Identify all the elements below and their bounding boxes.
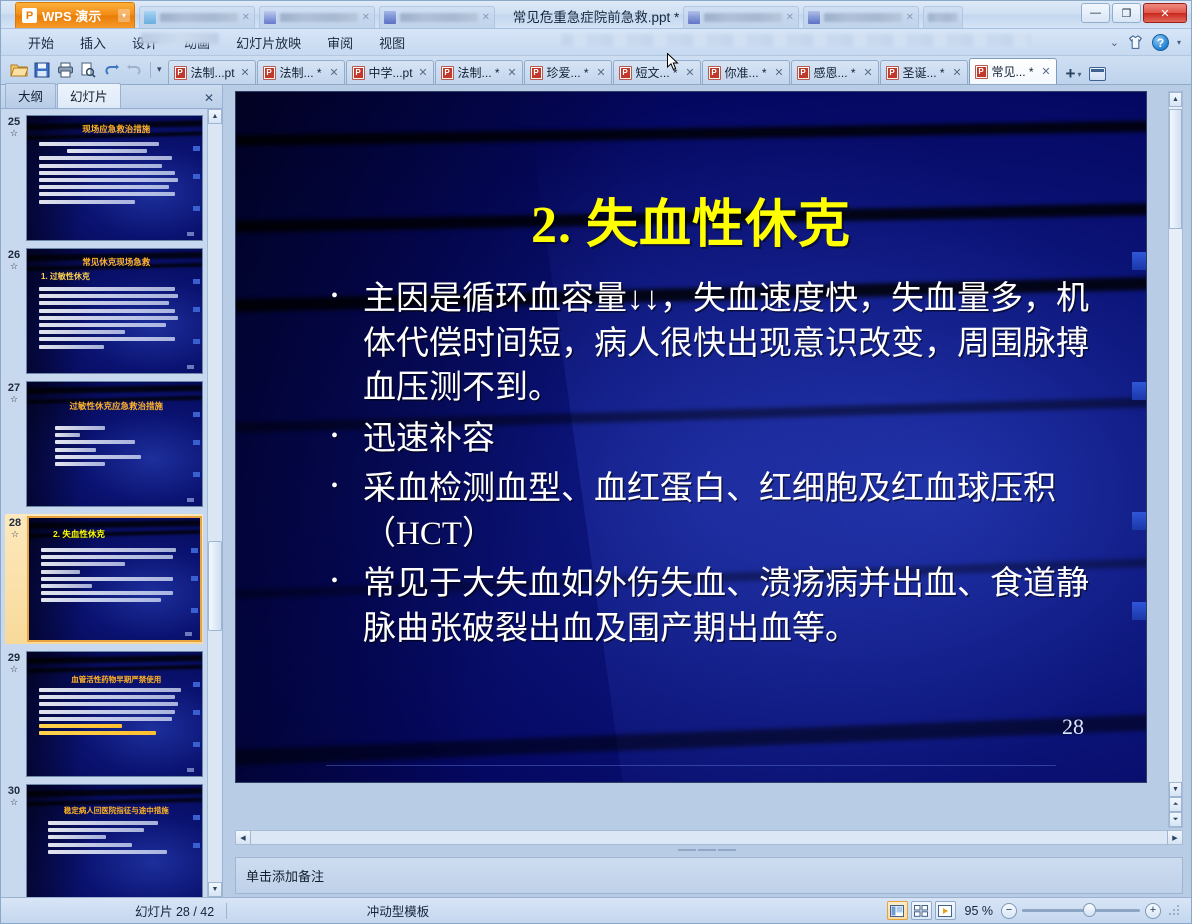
- thumbnail-page-number: [187, 498, 194, 502]
- thumbnail-number: 29 ☆: [5, 651, 23, 674]
- powerpoint-file-icon: [174, 66, 187, 80]
- zoom-slider-handle[interactable]: [1083, 903, 1096, 917]
- thumbnail-preview[interactable]: 常见休克现场急救 1. 过敏性休克: [26, 248, 203, 374]
- chevron-down-icon[interactable]: ⌄: [1110, 36, 1119, 49]
- close-icon[interactable]: ✕: [1041, 65, 1050, 78]
- scroll-down-icon[interactable]: ▼: [208, 882, 222, 897]
- redo-icon[interactable]: [124, 60, 144, 80]
- template-name: 冲动型模板: [227, 898, 569, 923]
- doc-icon: [144, 11, 156, 24]
- window-switch-icon[interactable]: [1089, 67, 1106, 81]
- slide-horizontal-scrollbar[interactable]: ◀ ▶: [235, 830, 1183, 845]
- thumbnail-preview[interactable]: 稳定病人回医院指征与途中措施: [26, 784, 203, 897]
- wps-logo-mark: P: [22, 8, 37, 23]
- thumbnail-title: 2. 失血性休克: [53, 528, 193, 540]
- background-window-tab-6[interactable]: [923, 6, 963, 28]
- thumbnail-page-number: [187, 365, 194, 369]
- thumbnail-item-26[interactable]: 26 ☆ 常见休克现场急救 1. 过敏性休克: [5, 248, 203, 374]
- doc-tab-label: 圣诞... *: [903, 64, 949, 81]
- background-window-tab-4[interactable]: ✕: [683, 6, 799, 28]
- doc-tab-6[interactable]: 短文... * ✕: [613, 60, 701, 84]
- background-window-tab-2[interactable]: ✕: [259, 6, 375, 28]
- bg-tab-label-blurred: [400, 13, 478, 22]
- powerpoint-file-icon: [441, 66, 454, 80]
- scrollbar-track[interactable]: [1169, 229, 1182, 782]
- thumbnail-page-number: [187, 768, 194, 772]
- doc-tab-label: 法制...pt: [191, 64, 237, 81]
- slide-wrap: 2. 失血性休克 • 主因是循环血容量↓↓，失血速度快，失血量多，机体代偿时间短…: [235, 91, 1162, 828]
- doc-tab-label: 珍爱... *: [547, 64, 593, 81]
- doc-tab-10-active[interactable]: 常见... * ✕: [969, 58, 1057, 84]
- app-menu-caret-icon[interactable]: ▾: [118, 9, 130, 22]
- slide-footer-rule: [326, 765, 1056, 766]
- thumbnail-preview[interactable]: 血管活性药物早期严禁使用: [26, 651, 203, 777]
- slide-decor-tick: [1132, 512, 1146, 530]
- animation-star-icon: ☆: [5, 798, 23, 807]
- doc-tab-3[interactable]: 中学...pt ✕: [346, 60, 434, 84]
- mouse-cursor: [667, 53, 679, 71]
- zoom-in-button[interactable]: +: [1145, 903, 1161, 919]
- powerpoint-file-icon: [530, 66, 543, 80]
- menu-item-review[interactable]: 审阅: [314, 30, 366, 55]
- doc-tab-1[interactable]: 法制...pt ✕: [168, 60, 256, 84]
- bullet-text: 迅速补容: [363, 417, 1100, 462]
- doc-tab-label: 法制... *: [280, 64, 326, 81]
- bg-tab-label-blurred: [280, 13, 358, 22]
- slide-editor-area: 2. 失血性休克 • 主因是循环血容量↓↓，失血速度快，失血量多，机体代偿时间短…: [223, 85, 1191, 897]
- thumbnail-preview[interactable]: 2. 失血性休克: [27, 516, 202, 642]
- thumbnail-body-lines: [39, 287, 193, 352]
- new-tab-button[interactable]: +: [1066, 67, 1076, 81]
- close-icon[interactable]: ✕: [329, 66, 338, 79]
- bg-tab-label-blurred: [160, 13, 238, 22]
- animation-star-icon: ☆: [5, 129, 23, 138]
- thumbnail-title: 血管活性药物早期严禁使用: [38, 674, 196, 685]
- slide-title[interactable]: 2. 失血性休克: [236, 182, 1146, 257]
- tshirt-skin-icon[interactable]: [1127, 35, 1144, 50]
- doc-tab-label: 法制... *: [458, 64, 504, 81]
- bullet-text: 常见于大失血如外伤失血、溃疡病并出血、食道静脉曲张破裂出血及围产期出血等。: [363, 562, 1100, 651]
- thumbnail-scrollbar[interactable]: ▲ ▼: [207, 109, 222, 897]
- doc-icon: [808, 11, 820, 24]
- bullet-marker-icon: •: [331, 467, 347, 556]
- thumbnail-page-number: [187, 232, 194, 236]
- document-tab-bar: ▾ 法制...pt ✕ 法制... * ✕ 中学...pt ✕ 法制... * …: [1, 56, 1191, 85]
- pane-splitter[interactable]: [223, 846, 1191, 854]
- notes-pane[interactable]: 单击添加备注: [235, 857, 1183, 894]
- menu-bar: 开始 插入 设计 动画 幻灯片放映 审阅 视图 ⌄ ? ▾: [1, 29, 1191, 56]
- wps-app-logo[interactable]: P WPS 演示 ▾: [15, 2, 135, 28]
- toolbar-separator: [150, 62, 151, 78]
- doc-tab-label: 感恩... *: [814, 64, 860, 81]
- print-preview-icon[interactable]: [78, 60, 98, 80]
- notes-placeholder: 单击添加备注: [246, 869, 324, 884]
- normal-view-button[interactable]: [887, 901, 908, 920]
- thumbnail-preview[interactable]: 现场应急救治措施: [26, 115, 203, 241]
- close-icon[interactable]: ✕: [240, 66, 249, 79]
- close-icon[interactable]: ✕: [685, 66, 694, 79]
- thumbnail-item-30[interactable]: 30 ☆ 稳定病人回医院指征与途中措施: [5, 784, 203, 897]
- scroll-left-icon[interactable]: ◀: [236, 831, 251, 844]
- slide-bullet-4[interactable]: • 常见于大失血如外伤失血、溃疡病并出血、食道静脉曲张破裂出血及围产期出血等。: [331, 562, 1100, 651]
- scroll-right-icon[interactable]: ▶: [1167, 831, 1182, 844]
- thumbnail-title: 现场应急救治措施: [38, 123, 196, 135]
- menu-bar-right-tools: ⌄ ? ▾: [1110, 34, 1191, 51]
- zoom-out-button[interactable]: −: [1001, 903, 1017, 919]
- tab-bar-actions: + ▾: [1058, 67, 1113, 84]
- bullet-text: 主因是循环血容量↓↓，失血速度快，失血量多，机体代偿时间短，病人很快出现意识改变…: [363, 277, 1100, 411]
- thumbnail-number: 26 ☆: [5, 248, 23, 271]
- thumbnail-column: 25 ☆ 现场应急救治措施: [1, 109, 207, 897]
- close-icon[interactable]: ✕: [418, 66, 427, 79]
- doc-tab-4[interactable]: 法制... * ✕: [435, 60, 523, 84]
- zoom-level-label: 95 %: [959, 904, 1002, 918]
- window-controls: — ❐ ✕: [1081, 1, 1191, 28]
- thumbnail-item-29[interactable]: 29 ☆ 血管活性药物早期严禁使用: [5, 651, 203, 777]
- maximize-button[interactable]: ❐: [1112, 3, 1141, 23]
- save-icon[interactable]: [32, 60, 52, 80]
- doc-tab-2[interactable]: 法制... * ✕: [257, 60, 345, 84]
- editor-body: 大纲 幻灯片 ✕ 25 ☆: [1, 85, 1191, 897]
- bg-tab-label-blurred: [928, 13, 958, 22]
- thumbnail-preview[interactable]: 过敏性休克应急救治措施: [26, 381, 203, 507]
- close-icon[interactable]: ✕: [863, 66, 872, 79]
- undo-icon[interactable]: [101, 60, 121, 80]
- slide-bullet-1[interactable]: • 主因是循环血容量↓↓，失血速度快，失血量多，机体代偿时间短，病人很快出现意识…: [331, 277, 1100, 411]
- scrollbar-track[interactable]: [251, 831, 1167, 844]
- thumbnail-page-number: [185, 632, 192, 636]
- doc-tab-5[interactable]: 珍爱... * ✕: [524, 60, 612, 84]
- thumbnail-item-25[interactable]: 25 ☆ 现场应急救治措施: [5, 115, 203, 241]
- thumbnail-body-lines: [48, 821, 193, 857]
- thumbnail-body-lines: [55, 426, 193, 469]
- background-window-tab-3[interactable]: ✕: [379, 6, 495, 28]
- menu-item-view[interactable]: 视图: [366, 30, 418, 55]
- bullet-marker-icon: •: [331, 417, 347, 462]
- thumbnail-number: 25 ☆: [5, 115, 23, 138]
- slide-canvas[interactable]: 2. 失血性休克 • 主因是循环血容量↓↓，失血速度快，失血量多，机体代偿时间短…: [235, 91, 1147, 783]
- toolbar-overflow-icon[interactable]: ▾: [157, 64, 162, 77]
- help-dropdown-icon[interactable]: ▾: [1177, 38, 1181, 47]
- scrollbar-thumb[interactable]: [1169, 109, 1182, 229]
- thumbnail-number: 30 ☆: [5, 784, 23, 807]
- open-file-icon[interactable]: [9, 60, 29, 80]
- bullet-marker-icon: •: [331, 562, 347, 651]
- tab-slides[interactable]: 幻灯片: [57, 83, 121, 108]
- doc-tab-label: 中学...pt: [369, 64, 415, 81]
- bg-tab-label-blurred: [824, 13, 902, 22]
- close-icon[interactable]: ✕: [774, 66, 783, 79]
- close-icon[interactable]: ✕: [362, 12, 370, 23]
- thumbnail-body-lines: [39, 142, 193, 207]
- bg-tab-label-blurred: [704, 13, 782, 22]
- close-icon[interactable]: ✕: [507, 66, 516, 79]
- zoom-slider[interactable]: [1022, 909, 1140, 912]
- scroll-up-icon[interactable]: ▲: [1169, 92, 1182, 107]
- thumbnail-number: 28 ☆: [6, 516, 24, 539]
- slide-decor-tick: [1132, 382, 1146, 400]
- powerpoint-file-icon: [797, 66, 810, 80]
- wps-presentation-window: P WPS 演示 ▾ ✕ ✕ ✕ 常见危重急症院前急救.ppt * ✕: [0, 0, 1192, 924]
- slide-decor-tick: [1132, 602, 1146, 620]
- animation-star-icon: ☆: [5, 665, 23, 674]
- slide-body-placeholder[interactable]: • 主因是循环血容量↓↓，失血速度快，失血量多，机体代偿时间短，病人很快出现意识…: [331, 277, 1100, 657]
- scroll-up-icon[interactable]: ▲: [208, 109, 222, 124]
- slide-sorter-button[interactable]: [911, 901, 932, 920]
- slide-bullet-3[interactable]: • 采血检测血型、血红蛋白、红细胞及红血球压积（HCT）: [331, 467, 1100, 556]
- scrollbar-track[interactable]: [208, 124, 222, 882]
- thumbnail-body-lines: [39, 688, 193, 738]
- doc-icon: [384, 11, 396, 24]
- powerpoint-file-icon: [886, 66, 899, 80]
- animation-star-icon: ☆: [5, 262, 23, 271]
- next-slide-icon[interactable]: ⏷: [1169, 812, 1182, 827]
- close-button[interactable]: ✕: [1143, 3, 1187, 23]
- scrollbar-thumb[interactable]: [208, 541, 222, 631]
- thumbnail-number: 27 ☆: [5, 381, 23, 404]
- thumbnail-list[interactable]: 25 ☆ 现场应急救治措施: [1, 109, 222, 897]
- status-bar: 幻灯片 28 / 42 冲动型模板 95 % − +: [1, 897, 1191, 923]
- close-icon[interactable]: ✕: [786, 12, 794, 23]
- doc-icon: [264, 11, 276, 24]
- thumbnail-item-27[interactable]: 27 ☆ 过敏性休克应急救治措施: [5, 381, 203, 507]
- new-tab-dropdown-icon[interactable]: ▾: [1077, 70, 1081, 79]
- doc-tab-label: 你准... *: [725, 64, 771, 81]
- slide-navigator-pane: 大纲 幻灯片 ✕ 25 ☆: [1, 85, 223, 897]
- title-bar: P WPS 演示 ▾ ✕ ✕ ✕ 常见危重急症院前急救.ppt * ✕: [1, 1, 1191, 29]
- thumbnail-body-lines: [41, 548, 191, 606]
- menu-decoration-blur: [141, 33, 219, 44]
- thumbnail-item-28-selected[interactable]: 28 ☆ 2. 失血性休克: [5, 514, 203, 644]
- bullet-marker-icon: •: [331, 277, 347, 411]
- quick-access-toolbar: ▾: [7, 60, 168, 84]
- doc-tab-8[interactable]: 感恩... * ✕: [791, 60, 879, 84]
- close-icon[interactable]: ✕: [952, 66, 961, 79]
- close-navigator-icon[interactable]: ✕: [196, 89, 222, 108]
- tab-outline[interactable]: 大纲: [5, 83, 56, 108]
- slide-bullet-2[interactable]: • 迅速补容: [331, 417, 1100, 462]
- close-icon[interactable]: ✕: [482, 12, 490, 23]
- powerpoint-file-icon: [708, 66, 721, 80]
- print-icon[interactable]: [55, 60, 75, 80]
- animation-star-icon: ☆: [5, 395, 23, 404]
- close-icon[interactable]: ✕: [242, 12, 250, 23]
- slide-vertical-scrollbar[interactable]: ▲ ▼ ⏶ ⏷: [1168, 91, 1183, 828]
- scroll-down-icon[interactable]: ▼: [1169, 782, 1182, 797]
- powerpoint-file-icon: [975, 65, 988, 79]
- animation-star-icon: ☆: [6, 530, 24, 539]
- bullet-text: 采血检测血型、血红蛋白、红细胞及红血球压积（HCT）: [363, 467, 1100, 556]
- close-icon[interactable]: ✕: [906, 12, 914, 23]
- menu-item-insert[interactable]: 插入: [67, 30, 119, 55]
- help-icon[interactable]: ?: [1152, 34, 1169, 51]
- menu-toolbar-blur: [561, 34, 1031, 46]
- minimize-button[interactable]: —: [1081, 3, 1110, 23]
- powerpoint-file-icon: [352, 66, 365, 80]
- menu-item-start[interactable]: 开始: [15, 30, 67, 55]
- thumbnail-title: 过敏性休克应急救治措施: [38, 400, 196, 412]
- background-window-tab-1[interactable]: ✕: [139, 6, 255, 28]
- doc-tab-label: 常见... *: [992, 63, 1038, 80]
- thumbnail-title: 稳定病人回医院指征与途中措施: [38, 805, 196, 816]
- resize-grip[interactable]: [1167, 905, 1181, 917]
- thumbnail-subtitle: 1. 过敏性休克: [41, 271, 90, 282]
- slide-page-number: 28: [1062, 714, 1084, 740]
- navigator-tab-strip: 大纲 幻灯片 ✕: [1, 85, 222, 109]
- slide-canvas-container: 2. 失血性休克 • 主因是循环血容量↓↓，失血速度快，失血量多，机体代偿时间短…: [223, 85, 1191, 828]
- powerpoint-file-icon: [263, 66, 276, 80]
- close-icon[interactable]: ✕: [596, 66, 605, 79]
- doc-tab-7[interactable]: 你准... * ✕: [702, 60, 790, 84]
- slideshow-button[interactable]: [935, 901, 956, 920]
- background-window-tab-5[interactable]: ✕: [803, 6, 919, 28]
- view-controls: 95 % − +: [887, 901, 1192, 920]
- doc-tab-9[interactable]: 圣诞... * ✕: [880, 60, 968, 84]
- powerpoint-file-icon: [619, 66, 632, 80]
- slide-counter: 幻灯片 28 / 42: [123, 898, 226, 923]
- thumbnail-title: 常见休克现场急救: [38, 256, 196, 268]
- previous-slide-icon[interactable]: ⏶: [1169, 797, 1182, 812]
- doc-icon: [688, 11, 700, 24]
- app-name-label: WPS 演示: [42, 6, 101, 25]
- menu-item-slideshow[interactable]: 幻灯片放映: [223, 30, 314, 55]
